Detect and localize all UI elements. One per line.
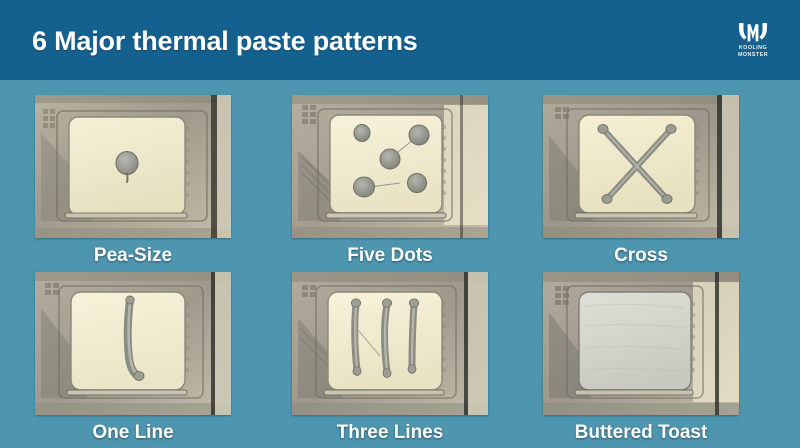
pattern-caption: Cross bbox=[543, 245, 739, 267]
brand-logo: KOOLING MONSTER bbox=[724, 22, 782, 66]
cpu-illustration bbox=[543, 95, 739, 238]
cpu-illustration bbox=[543, 272, 739, 415]
cpu-illustration bbox=[292, 95, 488, 238]
cpu-illustration bbox=[35, 272, 231, 415]
pattern-photo-five-dots bbox=[292, 95, 488, 238]
cpu-illustration bbox=[35, 95, 231, 238]
pattern-caption: Buttered Toast bbox=[543, 422, 739, 444]
pattern-photo-three-lines bbox=[292, 272, 488, 415]
brand-logo-text: KOOLING MONSTER bbox=[738, 45, 768, 58]
pattern-card-cross[interactable]: Cross bbox=[543, 95, 739, 267]
pattern-card-pea-size[interactable]: Pea-Size bbox=[35, 95, 231, 267]
pattern-caption: One Line bbox=[35, 422, 231, 444]
page-header: 6 Major thermal paste patterns KOOLING M… bbox=[0, 0, 800, 80]
pattern-caption: Pea-Size bbox=[35, 245, 231, 267]
pattern-card-three-lines[interactable]: Three Lines bbox=[292, 272, 488, 444]
cpu-illustration bbox=[292, 272, 488, 415]
kooling-monster-horns-icon bbox=[738, 22, 768, 43]
pattern-card-five-dots[interactable]: Five Dots bbox=[292, 95, 488, 267]
page-title: 6 Major thermal paste patterns bbox=[32, 26, 418, 57]
pattern-photo-cross bbox=[543, 95, 739, 238]
pattern-caption: Three Lines bbox=[292, 422, 488, 444]
pattern-card-buttered-toast[interactable]: Buttered Toast bbox=[543, 272, 739, 444]
pattern-photo-pea-size bbox=[35, 95, 231, 238]
pattern-photo-one-line bbox=[35, 272, 231, 415]
pattern-card-one-line[interactable]: One Line bbox=[35, 272, 231, 444]
brand-logo-line1: KOOLING bbox=[738, 45, 768, 52]
pattern-caption: Five Dots bbox=[292, 245, 488, 267]
brand-logo-line2: MONSTER bbox=[738, 52, 768, 59]
pattern-grid: Pea-Size bbox=[0, 80, 800, 448]
pattern-photo-buttered-toast bbox=[543, 272, 739, 415]
